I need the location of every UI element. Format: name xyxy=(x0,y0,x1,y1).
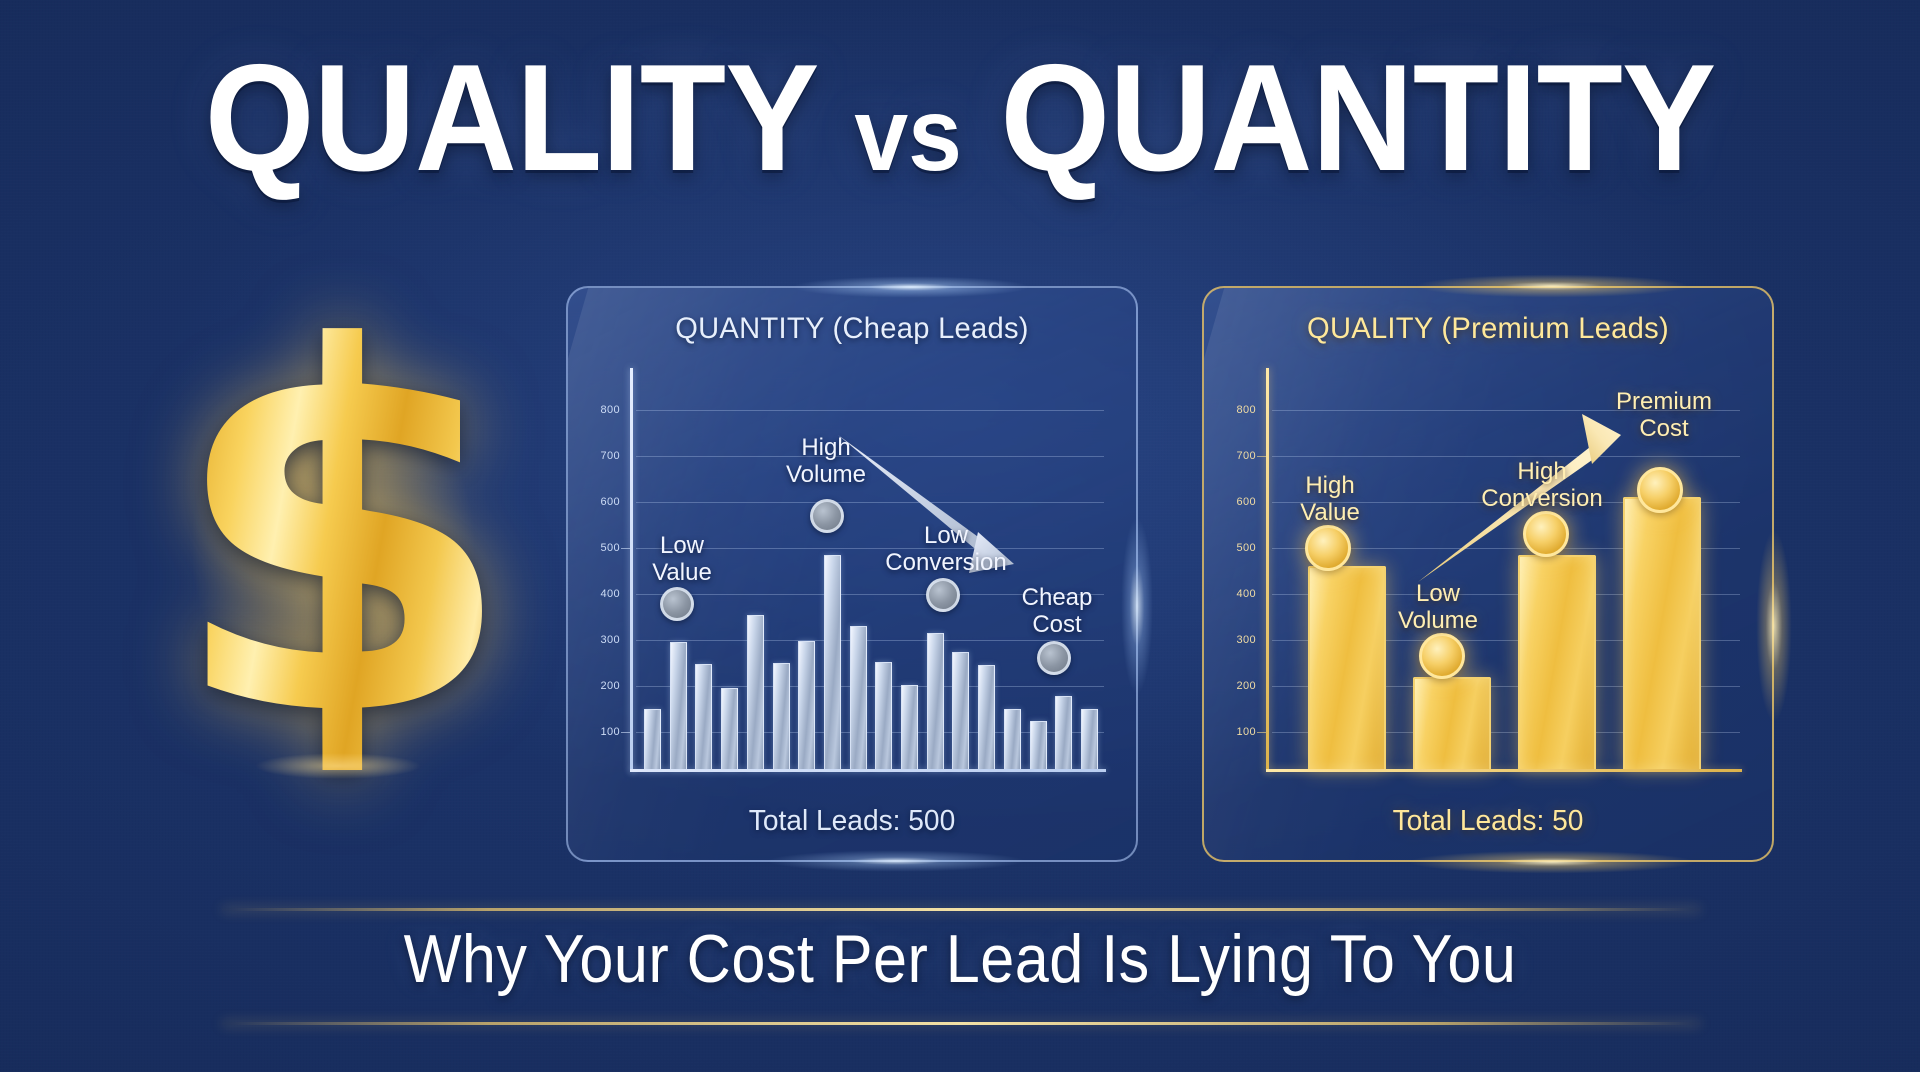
bar xyxy=(670,642,687,769)
marker-premium-cost xyxy=(1637,467,1683,513)
bar xyxy=(824,555,841,769)
panel-quantity-total: Total Leads: 500 xyxy=(577,805,1128,838)
y-tick-label: 500 xyxy=(1236,542,1256,554)
callout-high-volume: High Volume xyxy=(786,435,866,489)
y-axis xyxy=(1266,368,1269,772)
y-tick-label: 800 xyxy=(1236,404,1256,416)
bar xyxy=(978,665,995,769)
marker-low-volume xyxy=(1419,633,1465,679)
dollar-floor-glow xyxy=(223,748,453,784)
callout-low-conversion: Low Conversion xyxy=(885,523,1006,577)
divider-bottom xyxy=(222,1022,1700,1025)
bar xyxy=(1518,555,1596,769)
y-tick-label: 100 xyxy=(600,726,620,738)
y-tick-label: 200 xyxy=(1236,680,1256,692)
hero-dollar-sign: $ xyxy=(168,300,498,770)
callout-high-value: High Value xyxy=(1300,473,1360,527)
panel-quality: QUALITY (Premium Leads) 800 700 600 500 … xyxy=(1202,286,1774,862)
bar xyxy=(747,615,764,769)
bar xyxy=(1413,677,1491,769)
bar xyxy=(644,709,661,769)
bar xyxy=(850,626,867,769)
panel-quality-title: QUALITY (Premium Leads) xyxy=(1213,312,1764,346)
chart-quantity: 800 700 600 500 400 300 200 100 xyxy=(630,380,1100,772)
marker-high-volume xyxy=(810,499,844,533)
title-word-vs: vs xyxy=(854,77,962,193)
marker-cheap-cost xyxy=(1037,641,1071,675)
callout-high-conversion: High Conversion xyxy=(1481,459,1602,513)
page-subtitle: Why Your Cost Per Lead Is Lying To You xyxy=(96,925,1824,993)
bar xyxy=(927,633,944,769)
y-tick-label: 700 xyxy=(1236,450,1256,462)
y-tick-label: 400 xyxy=(1236,588,1256,600)
bar xyxy=(1308,566,1386,769)
y-tick-label: 700 xyxy=(600,450,620,462)
y-tick-label: 200 xyxy=(600,680,620,692)
y-tick-label: 100 xyxy=(1236,726,1256,738)
bar xyxy=(1030,721,1047,769)
bar xyxy=(773,663,790,769)
panel-quantity-title: QUANTITY (Cheap Leads) xyxy=(577,312,1128,346)
y-axis xyxy=(630,368,633,772)
marker-low-value xyxy=(660,587,694,621)
bar xyxy=(721,688,738,769)
y-tick-label: 500 xyxy=(600,542,620,554)
callout-low-value: Low Value xyxy=(652,533,712,587)
panel-quantity: QUANTITY (Cheap Leads) 800 700 600 500 4… xyxy=(566,286,1138,862)
y-tick-label: 600 xyxy=(600,496,620,508)
y-tick-dash xyxy=(1257,456,1266,457)
y-tick-dash xyxy=(621,732,630,733)
divider-top xyxy=(222,908,1700,911)
y-tick-label: 400 xyxy=(600,588,620,600)
title-word-quantity: QUANTITY xyxy=(1000,33,1715,203)
bar xyxy=(1004,709,1021,769)
x-axis xyxy=(630,769,1106,772)
y-tick-label: 800 xyxy=(600,404,620,416)
bar xyxy=(952,652,969,769)
bar xyxy=(798,641,815,769)
bar xyxy=(695,664,712,769)
y-tick-dash xyxy=(1257,732,1266,733)
panel-quality-surface: QUALITY (Premium Leads) 800 700 600 500 … xyxy=(1202,286,1774,862)
y-tick-label: 600 xyxy=(1236,496,1256,508)
bar xyxy=(901,685,918,769)
marker-low-conversion xyxy=(926,578,960,612)
bar xyxy=(1623,497,1701,769)
callout-cheap-cost: Cheap Cost xyxy=(1022,585,1093,639)
y-tick-dash xyxy=(621,548,630,549)
bar xyxy=(1055,696,1072,769)
bar xyxy=(875,662,892,769)
panel-quantity-surface: QUANTITY (Cheap Leads) 800 700 600 500 4… xyxy=(566,286,1138,862)
marker-high-conversion xyxy=(1523,511,1569,557)
bar xyxy=(1081,709,1098,769)
panel-quality-total: Total Leads: 50 xyxy=(1213,805,1764,838)
x-axis xyxy=(1266,769,1742,772)
y-tick-label: 300 xyxy=(1236,634,1256,646)
callout-low-volume: Low Volume xyxy=(1398,581,1478,635)
page-title: QUALITY vs QUANTITY xyxy=(67,46,1853,192)
y-tick-label: 300 xyxy=(600,634,620,646)
title-word-quality: QUALITY xyxy=(205,33,816,203)
chart-quality: 800 700 600 500 400 300 200 100 xyxy=(1266,380,1736,772)
callout-premium-cost: Premium Cost xyxy=(1616,389,1712,443)
marker-high-value xyxy=(1305,525,1351,571)
dollar-sign-icon: $ xyxy=(168,300,498,770)
